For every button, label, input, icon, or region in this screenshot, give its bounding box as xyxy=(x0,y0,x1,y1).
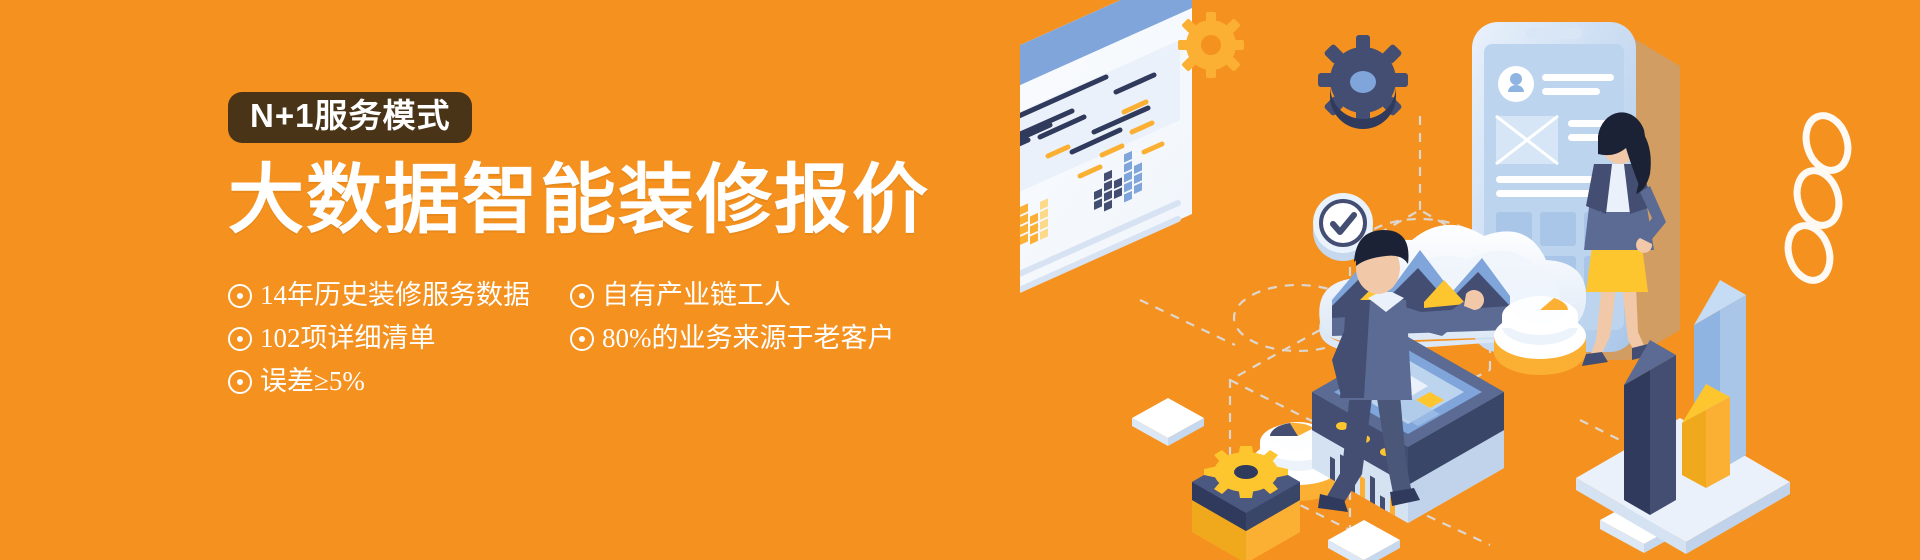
page-title: 大数据智能装修报价 xyxy=(228,161,988,241)
list-item-label: 102项详细清单 xyxy=(260,317,436,360)
gear-icon-small xyxy=(1178,12,1244,78)
target-dot-icon xyxy=(228,284,252,308)
dashboard-browser-window xyxy=(1020,0,1192,360)
list-item-label: 14年历史装修服务数据 xyxy=(260,274,530,317)
target-dot-icon xyxy=(570,284,594,308)
list-item: 自有产业链工人 xyxy=(570,274,988,317)
ring-decorations xyxy=(1781,110,1854,286)
banner-copy: N+1服务模式 大数据智能装修报价 14年历史装修服务数据 自有产业链工人 10… xyxy=(228,92,988,403)
list-item: 14年历史装修服务数据 xyxy=(228,274,548,317)
gear-icon-large xyxy=(1318,35,1408,129)
list-item-label: 自有产业链工人 xyxy=(602,274,791,317)
target-dot-icon xyxy=(570,327,594,351)
list-item: 80%的业务来源于老客户 xyxy=(570,317,988,360)
feature-bullet-list: 14年历史装修服务数据 自有产业链工人 102项详细清单 80%的业务来源于老客… xyxy=(228,274,988,403)
isometric-big-data-illustration xyxy=(1020,0,1920,560)
list-item: 误差≥5% xyxy=(228,360,548,403)
target-dot-icon xyxy=(228,370,252,394)
list-item-label: 误差≥5% xyxy=(260,360,365,403)
service-mode-badge: N+1服务模式 xyxy=(228,92,472,143)
target-dot-icon xyxy=(228,327,252,351)
banner-root: N+1服务模式 大数据智能装修报价 14年历史装修服务数据 自有产业链工人 10… xyxy=(0,0,1920,560)
list-item: 102项详细清单 xyxy=(228,317,548,360)
list-item-label: 80%的业务来源于老客户 xyxy=(602,317,895,360)
